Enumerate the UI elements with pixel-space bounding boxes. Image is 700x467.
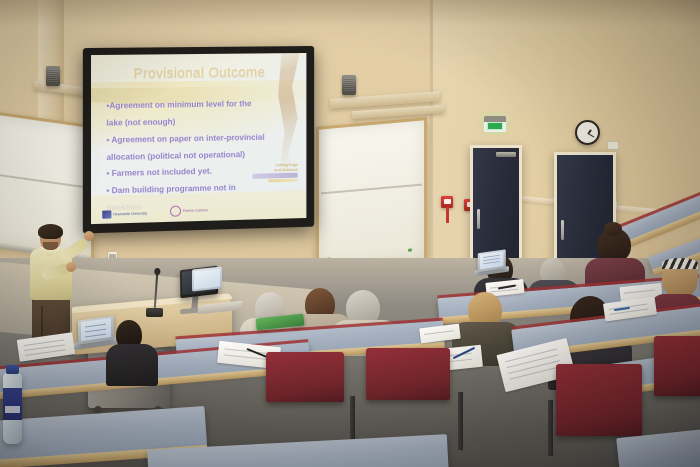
presenter-hand-pointing bbox=[84, 231, 94, 241]
glasses-icon bbox=[42, 235, 59, 240]
laptop-text-line bbox=[85, 334, 105, 338]
chair-back bbox=[556, 364, 642, 436]
slide-logo-band-bar2 bbox=[269, 178, 298, 182]
door-handle-icon[interactable] bbox=[561, 220, 564, 240]
door-closer bbox=[496, 152, 516, 157]
microphone-base bbox=[146, 308, 163, 317]
lecture-theatre-photo: Provisional Outcome •Agreement on minimu… bbox=[0, 0, 700, 467]
chair-back bbox=[266, 352, 344, 402]
slide-logo-middle-label: Partner Institute bbox=[183, 208, 208, 213]
bottle-label bbox=[3, 388, 22, 420]
slide-bullet: •Agreement on minimum level for the bbox=[106, 96, 285, 115]
water-bottle[interactable] bbox=[3, 372, 22, 444]
paper-line bbox=[424, 330, 454, 335]
chair-back bbox=[366, 348, 450, 400]
paper-line bbox=[490, 289, 518, 293]
attendee-laptop[interactable] bbox=[475, 251, 508, 274]
ceiling-shadow bbox=[0, 0, 700, 26]
laptop-lid bbox=[78, 315, 114, 344]
paper-line bbox=[510, 366, 562, 380]
screen-surface: Provisional Outcome •Agreement on minimu… bbox=[91, 53, 306, 224]
laptop-text-line bbox=[85, 324, 105, 328]
clock-minute-hand bbox=[587, 133, 594, 138]
paper-line bbox=[25, 349, 66, 356]
tablet-device[interactable] bbox=[192, 266, 222, 291]
exit-sign-icon bbox=[484, 116, 506, 132]
whiteboard-seam bbox=[0, 173, 89, 188]
slide-logo-band-bar bbox=[253, 172, 298, 178]
university-crest-icon bbox=[102, 210, 111, 218]
laptop-lid bbox=[478, 249, 506, 272]
presentation-slide: Provisional Outcome •Agreement on minimu… bbox=[91, 53, 306, 224]
wall-corner-seam bbox=[430, 0, 433, 300]
attendee-shoulders bbox=[106, 344, 158, 386]
exit-sign-glow bbox=[487, 122, 503, 130]
presenter-raised-arm bbox=[59, 237, 90, 263]
chair-leg bbox=[458, 392, 463, 450]
attendee-laptop-front[interactable] bbox=[74, 318, 116, 348]
slide-logo-middle: Partner Institute bbox=[170, 205, 208, 217]
whiteboard-right bbox=[316, 117, 427, 271]
laptop-text-line bbox=[85, 329, 105, 333]
speaker-left bbox=[46, 66, 60, 86]
laptop-screen bbox=[480, 251, 503, 269]
fire-alarm-stalk bbox=[446, 207, 449, 223]
wall-sensor-icon bbox=[607, 141, 619, 150]
partner-logo-icon bbox=[170, 206, 181, 217]
chair-back bbox=[654, 336, 700, 396]
slide-logo-left-label: Newcastle University bbox=[113, 211, 147, 216]
door-handle-icon[interactable] bbox=[477, 209, 480, 229]
laptop-screen bbox=[81, 318, 111, 341]
laptop-text-line bbox=[483, 261, 499, 264]
slide-logo-right: Cutting Edge and Outreach bbox=[253, 162, 298, 183]
chair-leg bbox=[548, 400, 553, 456]
projection-screen: Provisional Outcome •Agreement on minimu… bbox=[83, 46, 314, 233]
whiteboard-magnet bbox=[408, 248, 412, 251]
tablet-screen bbox=[194, 269, 220, 290]
speaker-right bbox=[342, 75, 356, 95]
slide-logo-left: Newcastle University bbox=[102, 209, 147, 218]
bottle-cap bbox=[6, 365, 19, 374]
paper-line bbox=[624, 290, 655, 294]
presenter-hand bbox=[66, 262, 76, 272]
whiteboard-seam bbox=[321, 184, 422, 195]
slide-title: Provisional Outcome bbox=[91, 64, 306, 82]
slide-logo-right-line2: and Outreach bbox=[274, 167, 298, 172]
headband-icon bbox=[662, 258, 698, 269]
attendee-hair-bun bbox=[604, 222, 622, 236]
presenter-beard bbox=[43, 242, 58, 250]
slide-bullet: lake (not enough) bbox=[106, 113, 285, 132]
wall-clock-icon bbox=[575, 120, 600, 145]
